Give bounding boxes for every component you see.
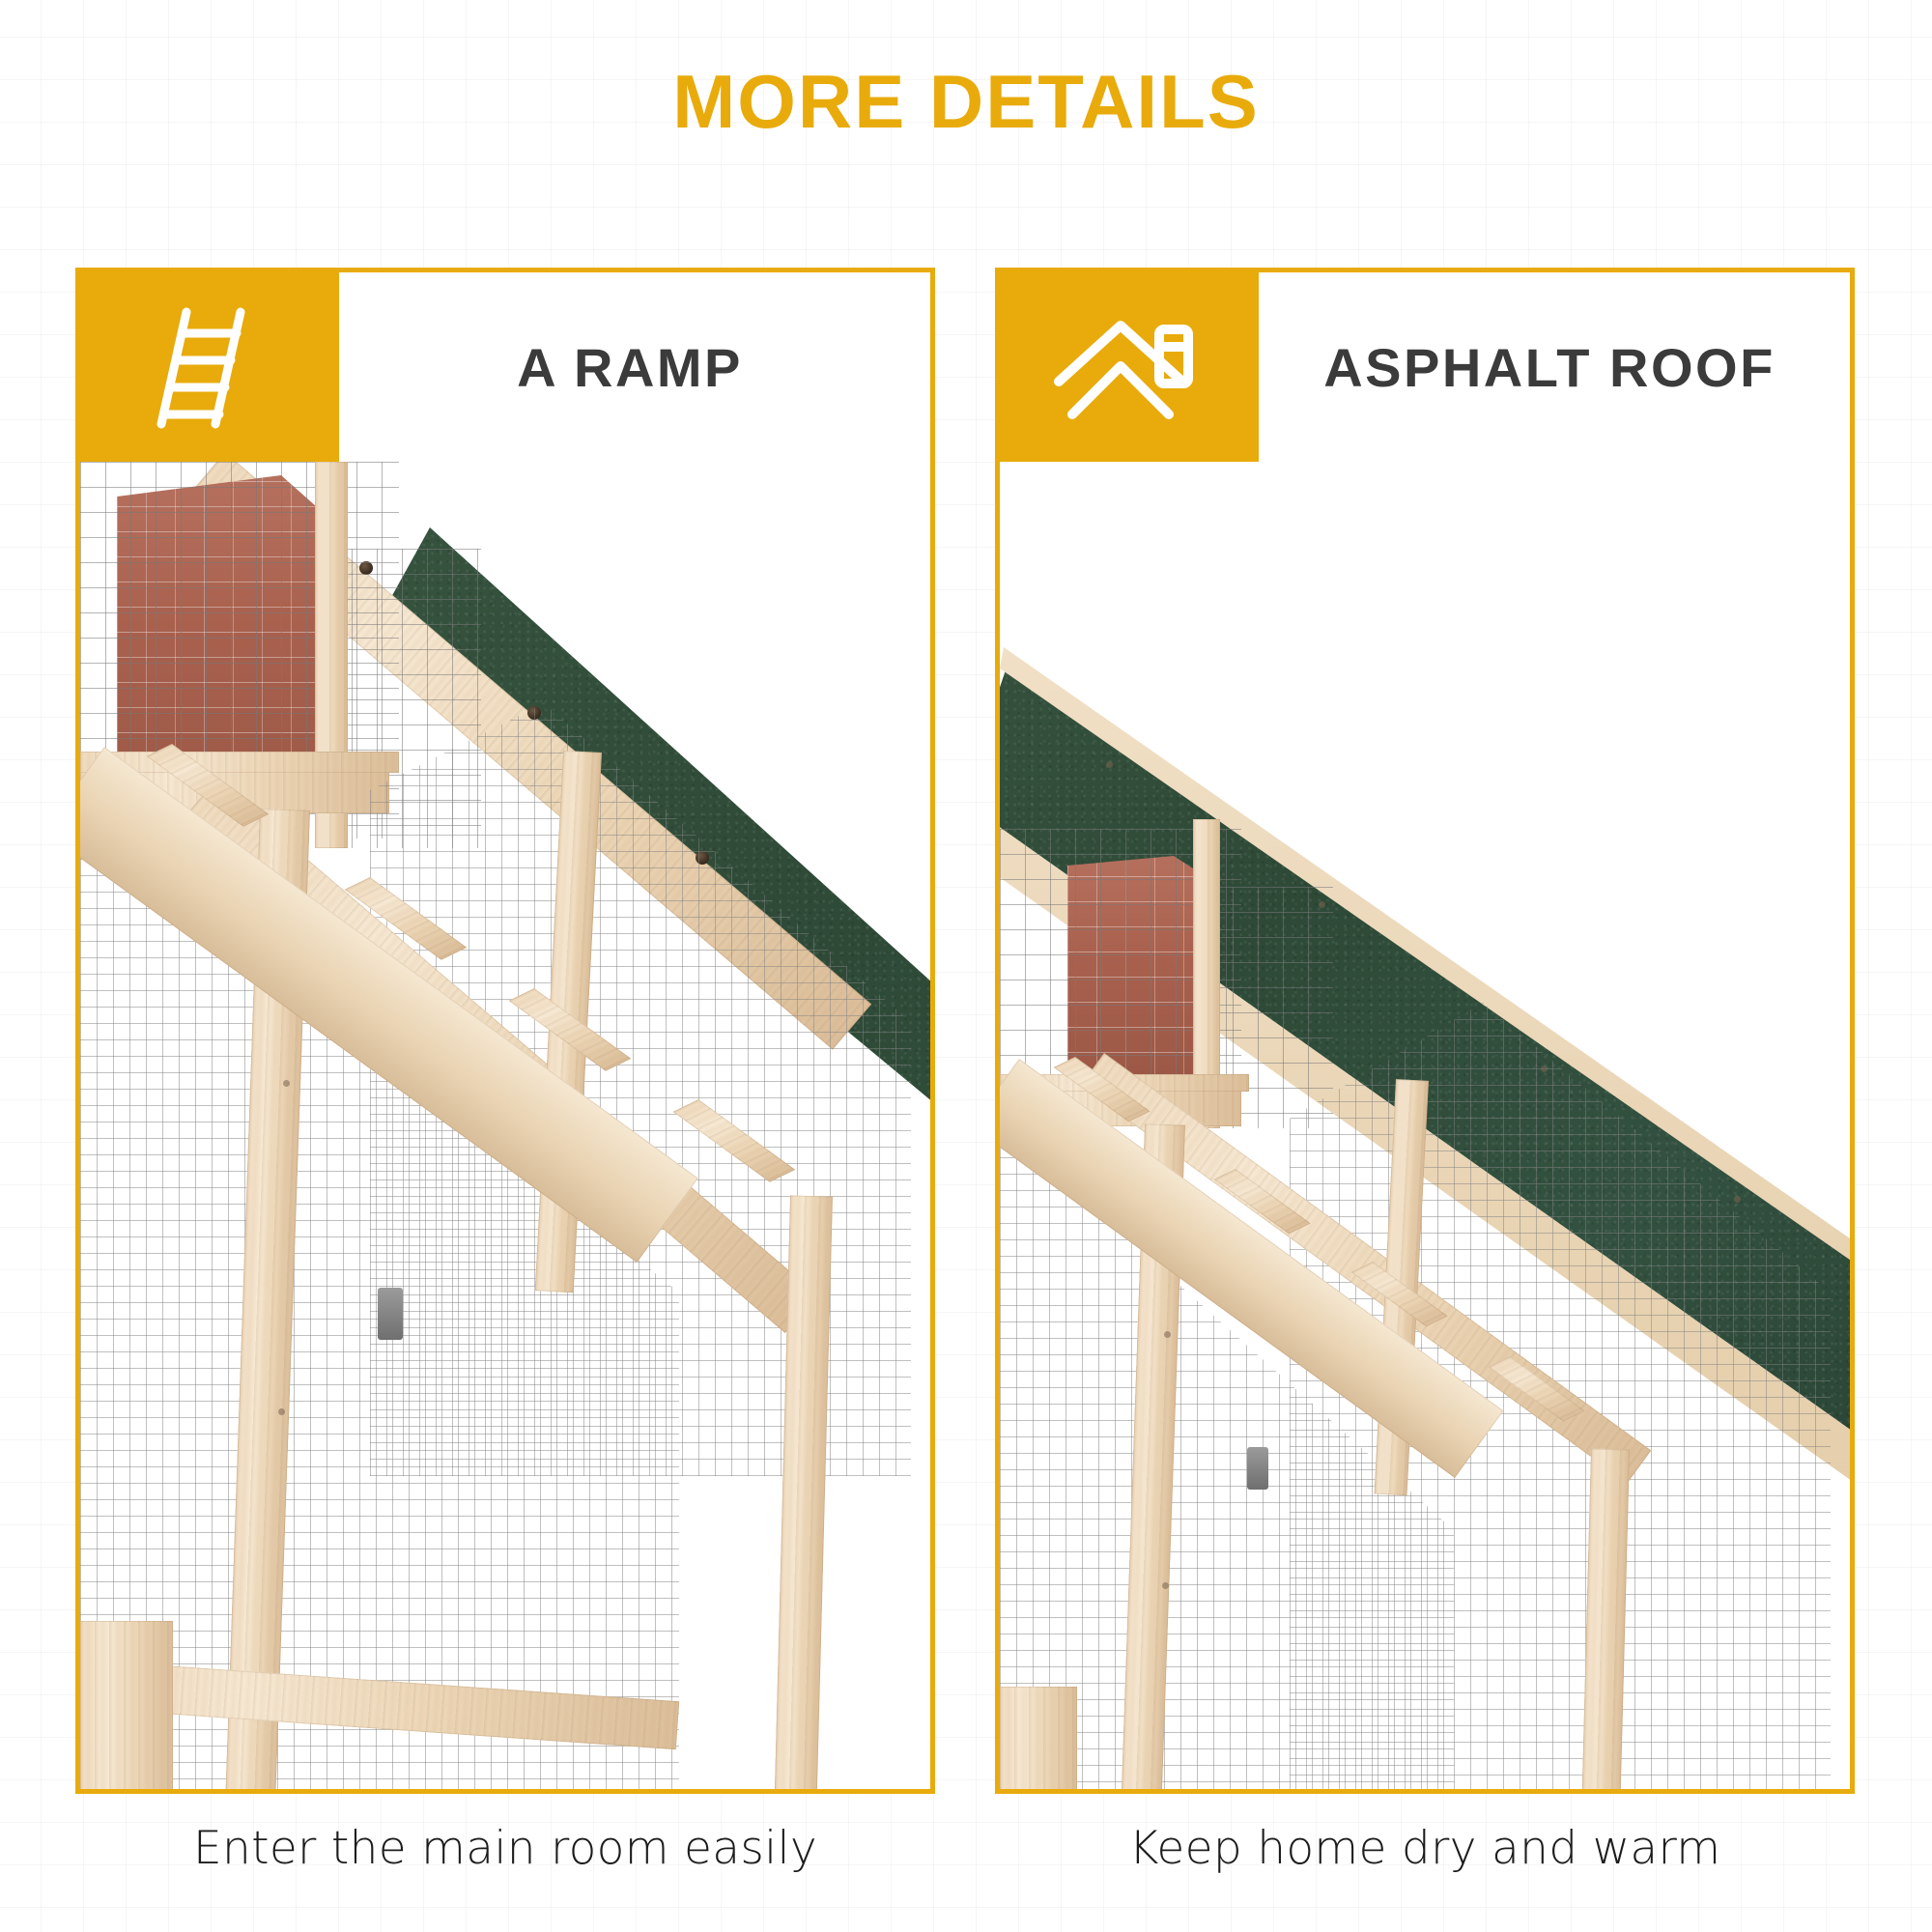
roof-icon: [1053, 310, 1206, 424]
corner-post: [1000, 1687, 1077, 1789]
ladder-icon: [148, 298, 271, 436]
corner-post: [80, 1621, 173, 1789]
nail: [1106, 761, 1113, 768]
nail: [1162, 1582, 1169, 1589]
roof-icon-box: [1000, 272, 1259, 462]
nail: [278, 1408, 285, 1415]
feature-panel-asphalt-roof: ASPHALT ROOF: [995, 268, 1855, 1794]
panel-title-ramp: A RAMP: [339, 336, 930, 399]
ladder-icon-box: [80, 272, 339, 462]
latch-hardware: [378, 1288, 403, 1340]
nail: [1734, 1196, 1741, 1203]
infographic-page: MORE DETAILS: [0, 0, 1932, 1932]
caption-asphalt-roof: Keep home dry and warm: [995, 1822, 1855, 1875]
panel-title-asphalt-roof: ASPHALT ROOF: [1259, 336, 1850, 399]
panel-header-asphalt-roof: ASPHALT ROOF: [1000, 272, 1850, 462]
feature-panel-ramp: A RAMP: [75, 268, 935, 1794]
photo-ramp: [80, 462, 930, 1789]
latch-hardware: [1247, 1447, 1268, 1490]
panel-header-ramp: A RAMP: [80, 272, 930, 462]
caption-ramp: Enter the main room easily: [75, 1822, 935, 1875]
photo-asphalt-roof: [1000, 462, 1850, 1789]
nail: [283, 1080, 290, 1087]
nail: [1164, 1331, 1171, 1338]
page-title: MORE DETAILS: [0, 58, 1932, 146]
